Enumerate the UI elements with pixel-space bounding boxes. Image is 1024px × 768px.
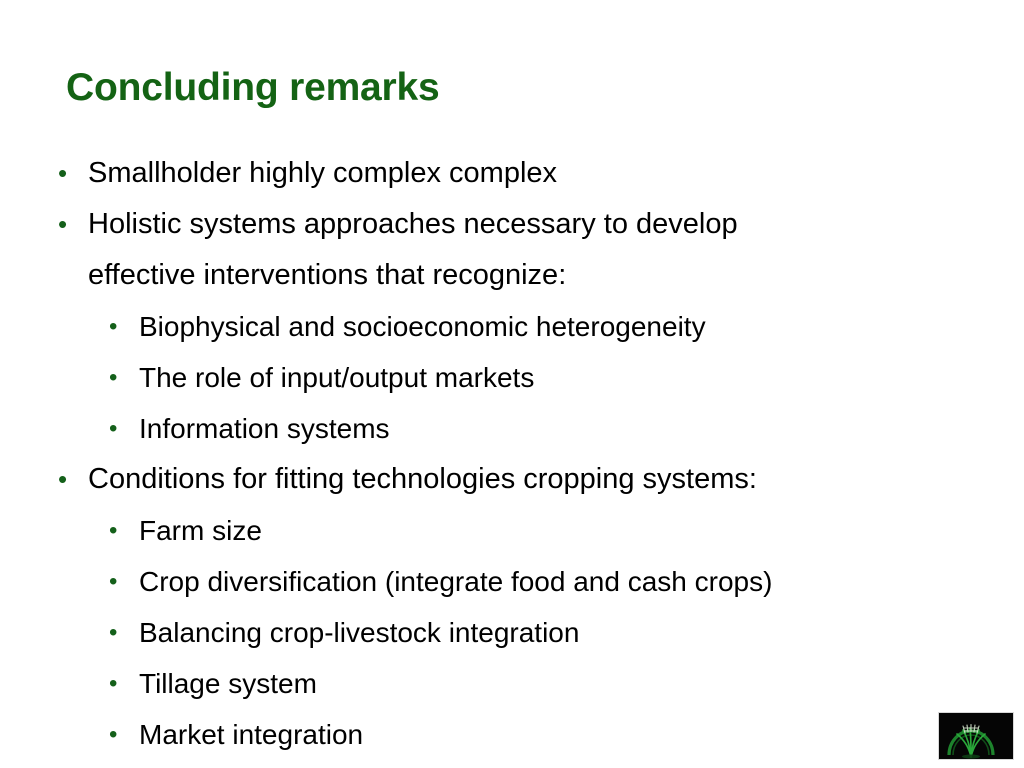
bullet-row: •Tillage system xyxy=(0,658,1024,709)
bullet-text: Smallholder highly complex complex xyxy=(88,148,557,199)
bullet-row: •Information systems xyxy=(0,403,1024,454)
bullet-row: •Market integration xyxy=(0,709,1024,760)
bullet-dot-icon: • xyxy=(109,556,121,607)
bullet-dot-icon: • xyxy=(109,301,121,352)
bullet-dot-icon: • xyxy=(109,709,121,760)
plant-arc-icon xyxy=(939,713,1013,759)
bullet-row: •The role of input/output markets xyxy=(0,352,1024,403)
bullet-dot-icon: • xyxy=(109,403,121,454)
bullet-text: Information systems xyxy=(139,403,390,454)
bullet-dot-icon: • xyxy=(58,454,70,505)
bullet-dot-icon: • xyxy=(109,352,121,403)
bullet-row: •Holistic systems approaches necessary t… xyxy=(0,199,1024,250)
bullet-text: Market integration xyxy=(139,709,363,760)
bullet-text: Biophysical and socioeconomic heterogene… xyxy=(139,301,706,352)
bullet-text: Crop diversification (integrate food and… xyxy=(139,556,772,607)
bullet-row: •Farm size xyxy=(0,505,1024,556)
bullet-dot-icon: • xyxy=(109,658,121,709)
page-title: Concluding remarks xyxy=(66,68,440,109)
bullet-dot-icon: • xyxy=(58,148,70,199)
bullet-row: •Balancing crop-livestock integration xyxy=(0,607,1024,658)
slide-canvas: Concluding remarks •Smallholder highly c… xyxy=(0,0,1024,768)
plant-arc-logo xyxy=(938,712,1014,760)
bullet-text: Holistic systems approaches necessary to… xyxy=(88,199,738,250)
bullet-dot-icon: • xyxy=(109,505,121,556)
bullet-text: The role of input/output markets xyxy=(139,352,534,403)
bullet-text: Balancing crop-livestock integration xyxy=(139,607,579,658)
bullet-text: Tillage system xyxy=(139,658,317,709)
bullet-text: Conditions for fitting technologies crop… xyxy=(88,454,757,505)
bullet-dot-icon: • xyxy=(58,199,70,250)
bullet-row: •Smallholder highly complex complex xyxy=(0,148,1024,199)
bullet-text: Farm size xyxy=(139,505,262,556)
bullet-row: •Conditions for fitting technologies cro… xyxy=(0,454,1024,505)
bullet-dot-icon: • xyxy=(109,607,121,658)
bullet-row: •Crop diversification (integrate food an… xyxy=(0,556,1024,607)
bullet-text: effective interventions that recognize: xyxy=(88,250,566,301)
bullet-row: effective interventions that recognize: xyxy=(0,250,1024,301)
bullet-list: •Smallholder highly complex complex•Holi… xyxy=(0,148,1024,760)
bullet-row: •Biophysical and socioeconomic heterogen… xyxy=(0,301,1024,352)
